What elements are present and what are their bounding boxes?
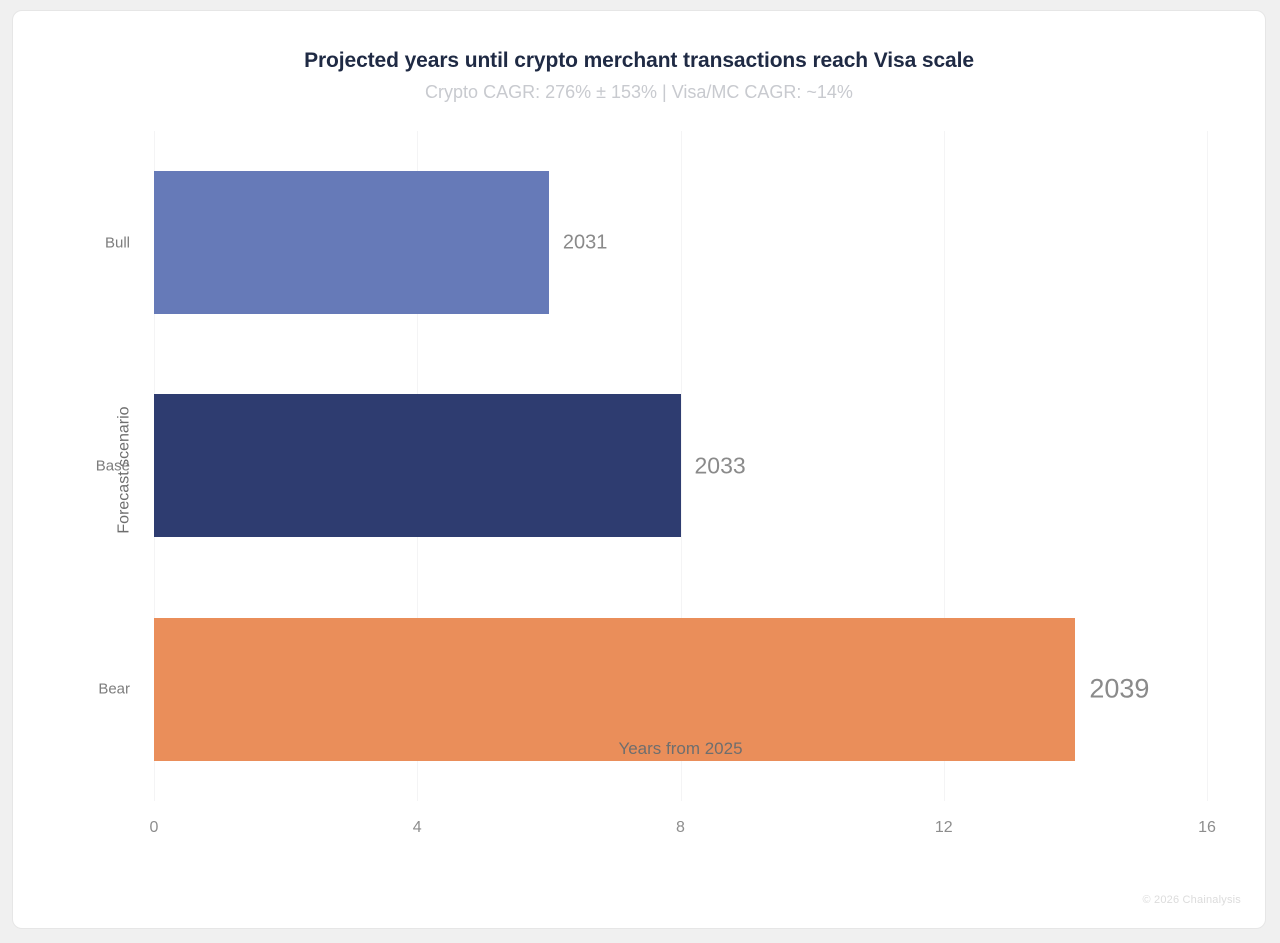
bar-row: Bear2039	[154, 578, 1207, 801]
y-tick-label-bull: Bull	[105, 234, 130, 251]
x-tick-label: 16	[1198, 819, 1216, 837]
x-gridline	[1207, 131, 1208, 801]
bar-value-label-base: 2033	[695, 452, 746, 479]
x-tick-label: 0	[150, 819, 159, 837]
bar-row: Base2033	[154, 354, 1207, 577]
plot-area: 0481216Bull2031Base2033Bear2039	[154, 131, 1207, 801]
x-axis-title: Years from 2025	[154, 739, 1207, 759]
chart-subtitle: Crypto CAGR: 276% ± 153% | Visa/MC CAGR:…	[13, 82, 1265, 103]
bar-row: Bull2031	[154, 131, 1207, 354]
bar-value-label-bull: 2031	[563, 231, 608, 254]
y-tick-label-base: Base	[96, 457, 130, 474]
x-tick-label: 4	[413, 819, 422, 837]
bar-chart: Projected years until crypto merchant tr…	[13, 11, 1265, 928]
watermark: © 2026 Chainalysis	[1142, 894, 1241, 906]
chart-title: Projected years until crypto merchant tr…	[13, 49, 1265, 73]
x-tick-label: 12	[935, 819, 953, 837]
y-tick-label-bear: Bear	[98, 681, 130, 698]
bar-value-label-bear: 2039	[1089, 674, 1149, 705]
bar-base[interactable]	[154, 394, 681, 537]
x-tick-label: 8	[676, 819, 685, 837]
bar-bull[interactable]	[154, 171, 549, 314]
chart-card: Projected years until crypto merchant tr…	[12, 10, 1266, 929]
